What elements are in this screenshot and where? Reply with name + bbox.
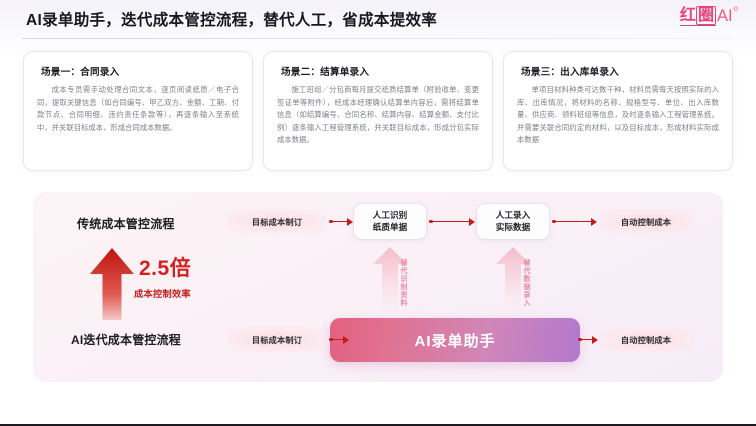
efficiency-multiplier-caption: 成本控制效率 bbox=[134, 286, 191, 300]
brand-logo: 红圈 AI o bbox=[680, 8, 738, 26]
flow-node-manual-recognize-line2: 纸质单据 bbox=[373, 222, 407, 234]
scenario-card-1: 场景一：合同录入 成本专员需手动处理合同文本，逐页阅读纸质／电子合同，提取关键信… bbox=[24, 52, 252, 170]
flow-arrow-top-2 bbox=[429, 217, 475, 226]
flow-node-manual-entry[interactable]: 人工录入 实际数据 bbox=[477, 204, 549, 239]
scenario-card-1-body: 成本专员需手动处理合同文本，逐页阅读纸质／电子合同，提取关键信息（如合同编号、甲… bbox=[37, 84, 239, 134]
replace-arrow-2-label: 替代数据录入 bbox=[496, 259, 530, 307]
flow-arrow-bottom-1-head bbox=[343, 336, 349, 344]
flow-arrow-bottom-1 bbox=[329, 335, 349, 344]
flow-node-manual-entry-line1: 人工录入 bbox=[496, 210, 530, 222]
logo-char-quan: 圈 bbox=[696, 6, 716, 25]
flow-arrow-top-3-head bbox=[591, 218, 597, 226]
flow-arrow-bottom-2 bbox=[578, 335, 598, 344]
flow-node-ai-assistant[interactable]: AI录单助手 bbox=[330, 318, 580, 362]
scenario-card-3-body: 单项目材料种类可达数千种，材料员需每天按照实际的入库、出库情况，将材料的名称、规… bbox=[517, 84, 719, 147]
header-divider bbox=[22, 38, 734, 39]
logo-chinese: 红圈 bbox=[680, 8, 716, 26]
logo-superscript-circle: o bbox=[734, 5, 738, 13]
flow-arrow-bottom-2-line bbox=[582, 339, 592, 341]
logo-char-hong: 红 bbox=[680, 7, 696, 24]
row-label-ai: AI迭代成本管控流程 bbox=[71, 331, 181, 348]
slide-root: AI录单助手，迭代成本管控流程，替代人工，省成本提效率 红圈 AI o 场景一：… bbox=[0, 0, 756, 426]
flow-node-target-cost-traditional[interactable]: 目标成本制订 bbox=[228, 209, 326, 234]
efficiency-multiplier: 2.5倍 bbox=[139, 258, 191, 279]
flow-arrow-top-1 bbox=[329, 217, 353, 226]
scenario-card-2: 场景二：结算单录入 施工班组／分包商每月提交纸质结算单（附验收单、变更签证单等附… bbox=[264, 52, 492, 170]
replace-arrow-2: 替代数据录入 bbox=[496, 247, 530, 319]
scenario-card-3-title: 场景三：出入库单录入 bbox=[521, 64, 719, 78]
flow-node-manual-entry-line2: 实际数据 bbox=[496, 222, 530, 234]
replace-arrow-1-label: 替代识别资料 bbox=[373, 259, 407, 307]
row-label-traditional: 传统成本管控流程 bbox=[77, 215, 175, 232]
flow-arrow-bottom-2-head bbox=[592, 336, 598, 344]
efficiency-up-arrow-icon bbox=[90, 248, 134, 320]
flow-arrow-top-3-line bbox=[556, 221, 591, 223]
scenario-card-2-body: 施工班组／分包商每月提交纸质结算单（附验收单、变更签证单等附件），经成本经理确认… bbox=[277, 84, 479, 147]
flow-node-auto-control-traditional[interactable]: 自动控制成本 bbox=[599, 209, 693, 234]
flow-arrow-top-1-line bbox=[333, 221, 347, 223]
flow-arrow-top-1-head bbox=[347, 218, 353, 226]
flow-node-manual-recognize[interactable]: 人工识别 纸质单据 bbox=[354, 204, 426, 239]
scenario-card-2-title: 场景二：结算单录入 bbox=[281, 64, 479, 78]
scenario-card-list: 场景一：合同录入 成本专员需手动处理合同文本，逐页阅读纸质／电子合同，提取关键信… bbox=[24, 52, 732, 170]
flow-arrow-bottom-1-line bbox=[333, 339, 343, 341]
scenario-card-1-title: 场景一：合同录入 bbox=[41, 64, 239, 78]
flow-arrow-top-3 bbox=[552, 217, 597, 226]
flow-arrow-top-2-line bbox=[433, 221, 469, 223]
replace-arrow-1: 替代识别资料 bbox=[373, 247, 407, 319]
slide-header: AI录单助手，迭代成本管控流程，替代人工，省成本提效率 红圈 AI o bbox=[0, 0, 756, 38]
page-title: AI录单助手，迭代成本管控流程，替代人工，省成本提效率 bbox=[26, 8, 437, 30]
scenario-card-3: 场景三：出入库单录入 单项目材料种类可达数千种，材料员需每天按照实际的入库、出库… bbox=[504, 52, 732, 170]
logo-ai-text: AI bbox=[717, 8, 733, 25]
flow-arrow-top-2-head bbox=[469, 218, 475, 226]
flow-node-auto-control-ai[interactable]: 自动控制成本 bbox=[599, 327, 693, 352]
flow-node-manual-recognize-line1: 人工识别 bbox=[373, 210, 407, 222]
flow-node-target-cost-ai[interactable]: 目标成本制订 bbox=[228, 327, 326, 352]
